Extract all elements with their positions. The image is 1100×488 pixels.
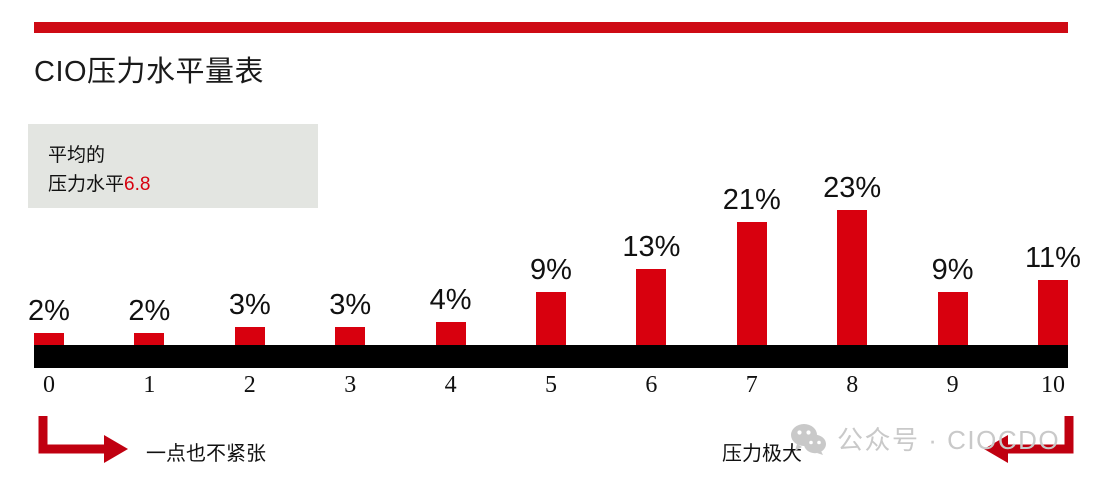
bar-6 (636, 269, 666, 345)
x-tick-label-1: 1 (143, 372, 155, 399)
bar-0 (34, 333, 64, 345)
bar-value-label-8: 23% (823, 172, 881, 205)
x-tick-label-5: 5 (545, 372, 557, 399)
low-stress-arrow-icon (38, 414, 134, 466)
x-tick-label-6: 6 (645, 372, 657, 399)
bar-value-label-4: 4% (430, 284, 472, 317)
bar-value-label-10: 11% (1025, 242, 1081, 275)
bar-value-label-1: 2% (128, 295, 170, 328)
x-tick-label-0: 0 (43, 372, 55, 399)
x-tick-label-7: 7 (746, 372, 758, 399)
bar-4 (436, 322, 466, 345)
low-stress-label: 一点也不紧张 (146, 437, 266, 466)
bar-value-label-0: 2% (28, 295, 70, 328)
bar-3 (335, 327, 365, 345)
bar-10 (1038, 280, 1068, 345)
bar-value-label-3: 3% (329, 289, 371, 322)
stress-level-bar-chart: 2%2%3%3%4%9%13%21%23%9%11% 012345678910 (0, 0, 1100, 488)
x-tick-label-4: 4 (445, 372, 457, 399)
bar-value-label-9: 9% (932, 254, 974, 287)
x-tick-label-2: 2 (244, 372, 256, 399)
x-tick-label-10: 10 (1041, 372, 1065, 399)
x-tick-label-3: 3 (344, 372, 356, 399)
bar-1 (134, 333, 164, 345)
high-stress-label: 压力极大 (722, 437, 802, 466)
bar-2 (235, 327, 265, 345)
x-tick-label-9: 9 (947, 372, 959, 399)
high-stress-arrow-icon (978, 414, 1074, 466)
bar-value-label-7: 21% (723, 184, 781, 217)
bar-5 (536, 292, 566, 345)
slide-root: CIO压力水平量表 平均的 压力水平6.8 2%2%3%3%4%9%13%21%… (0, 0, 1100, 488)
bar-9 (938, 292, 968, 345)
chart-axis-bar (34, 345, 1068, 368)
bar-value-label-6: 13% (622, 231, 680, 264)
bar-value-label-2: 3% (229, 289, 271, 322)
bar-8 (837, 210, 867, 345)
x-tick-label-8: 8 (846, 372, 858, 399)
bar-7 (737, 222, 767, 345)
bar-value-label-5: 9% (530, 254, 572, 287)
